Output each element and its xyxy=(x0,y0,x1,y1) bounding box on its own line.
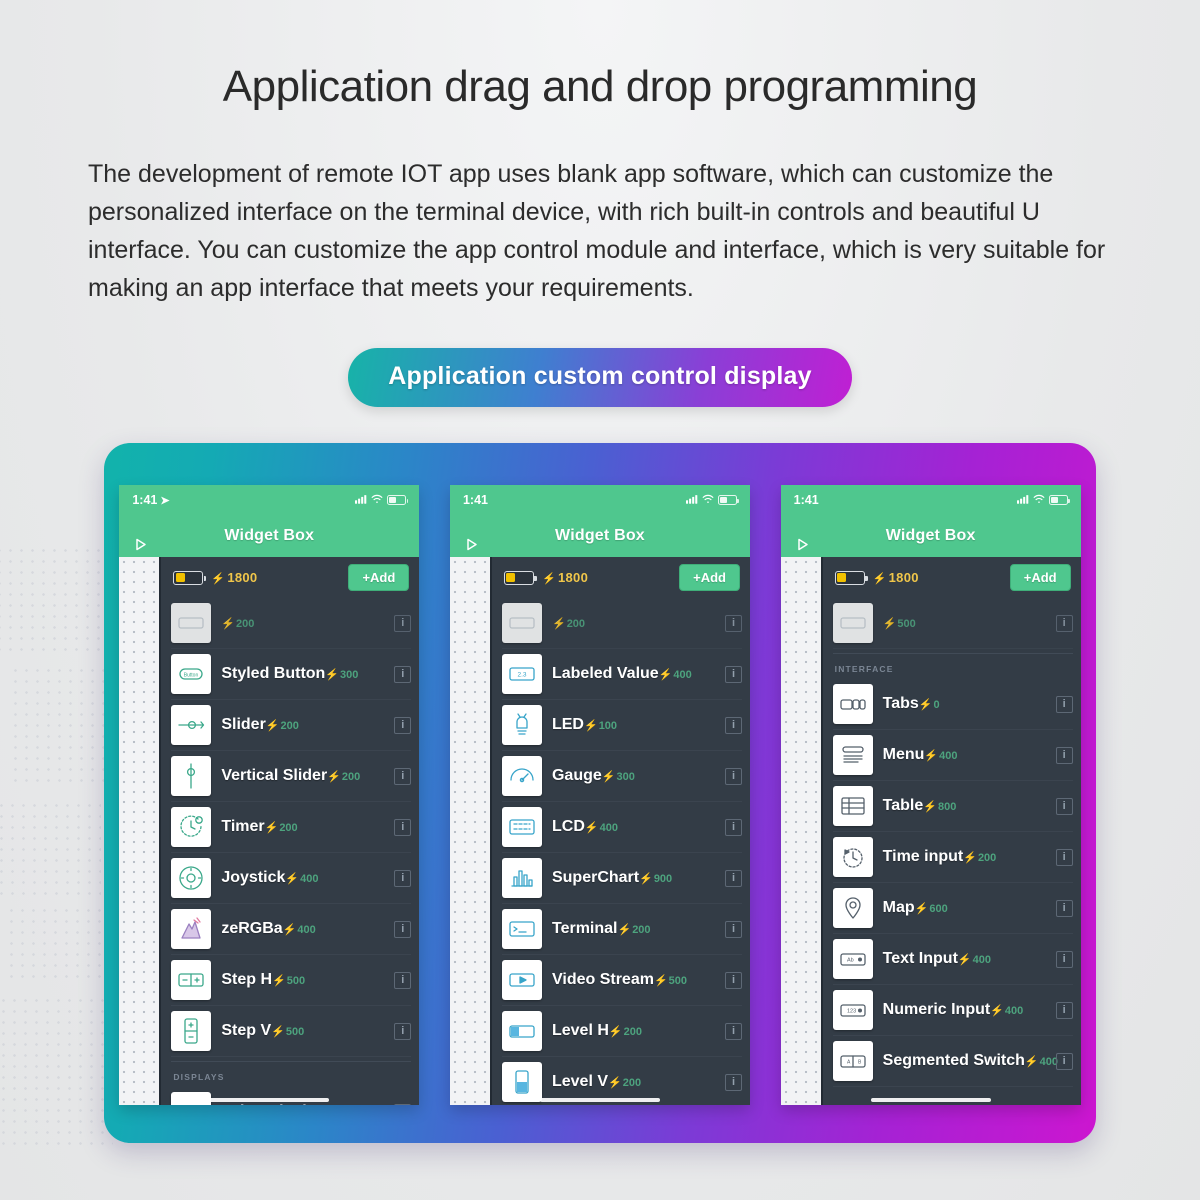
widget-info-icon[interactable]: i xyxy=(394,768,411,785)
status-time: 1:41 xyxy=(794,493,819,507)
widget-name: Timer xyxy=(221,818,264,835)
gauge-icon xyxy=(502,756,542,796)
slider-icon xyxy=(171,705,211,745)
status-time: 1:41 xyxy=(132,493,157,507)
widget-list-item[interactable]: Vertical Slider⚡200i xyxy=(171,751,411,802)
location-arrow-icon: ➤ xyxy=(160,494,169,507)
widget-list-item[interactable]: Menu⚡400i xyxy=(833,730,1073,781)
table-icon xyxy=(833,786,873,826)
signal-bars-icon xyxy=(686,493,698,507)
widget-energy-cost: ⚡400 xyxy=(924,750,957,762)
widget-name: zeRGBa xyxy=(221,920,282,937)
widget-info-icon[interactable]: i xyxy=(725,615,742,632)
widget-energy-cost: ⚡200 xyxy=(327,771,360,783)
widget-info-icon[interactable]: i xyxy=(394,1023,411,1040)
superchart-icon xyxy=(502,858,542,898)
widget-info-icon[interactable]: i xyxy=(725,870,742,887)
widget-info-icon[interactable]: i xyxy=(394,819,411,836)
widget-name: Slider xyxy=(221,716,265,733)
svg-text:Button: Button xyxy=(184,673,199,679)
widget-energy-cost: ⚡200 xyxy=(221,618,254,630)
widget-list-item[interactable]: 123Numeric Input⚡400i xyxy=(833,985,1073,1036)
widget-info-icon[interactable]: i xyxy=(394,921,411,938)
phone-mockup: 1:41Widget Box⚡1800+Add⚡200i2.3Labeled V… xyxy=(450,485,750,1105)
widget-list-item[interactable]: Table⚡800i xyxy=(833,781,1073,832)
widget-info-icon[interactable]: i xyxy=(725,1023,742,1040)
widget-name: Table xyxy=(883,797,924,814)
numeric-input-icon: 123 xyxy=(833,990,873,1030)
signal-bars-icon xyxy=(355,493,367,507)
widget-info-icon[interactable]: i xyxy=(725,972,742,989)
battery-icon xyxy=(387,495,406,505)
widget-info-icon[interactable]: i xyxy=(1056,900,1073,917)
canvas-dot-grid[interactable] xyxy=(119,557,161,1105)
time-input-icon xyxy=(833,837,873,877)
widget-info-icon[interactable]: i xyxy=(394,1104,411,1106)
widget-list-item[interactable]: Step V⚡500i xyxy=(171,1006,411,1057)
widget-list-item[interactable]: ButtonStyled Button⚡300i xyxy=(171,649,411,700)
widget-list-item[interactable]: Time input⚡200i xyxy=(833,832,1073,883)
widget-info-icon[interactable]: i xyxy=(1056,1002,1073,1019)
segmented-switch-icon: AB xyxy=(833,1041,873,1081)
widget-info-icon[interactable]: i xyxy=(1056,696,1073,713)
widget-name: Level H xyxy=(552,1022,609,1039)
map-icon xyxy=(833,888,873,928)
widget-list-item[interactable]: zeRGBa⚡400i xyxy=(171,904,411,955)
app-title: Widget Box xyxy=(781,527,1081,545)
widget-name: Labeled Value xyxy=(552,665,659,682)
widget-name: Tabs xyxy=(883,695,919,712)
widget-box-panel: ⚡1800+Add⚡200iButtonStyled Button⚡300iSl… xyxy=(161,557,419,1105)
widget-energy-cost: ⚡400 xyxy=(1025,1056,1058,1068)
widget-list-item[interactable]: Step H⚡500i xyxy=(171,955,411,1006)
widget-energy-cost: ⚡500 xyxy=(272,975,305,987)
add-energy-button[interactable]: +Add xyxy=(348,564,409,591)
section-badge-label: Application custom control display xyxy=(388,362,812,390)
widget-info-icon[interactable]: i xyxy=(725,717,742,734)
svg-text:123: 123 xyxy=(847,1009,856,1015)
widget-name: Vertical Slider xyxy=(221,767,327,784)
widget-list-item[interactable]: AbText Input⚡400i xyxy=(833,934,1073,985)
widget-info-icon[interactable]: i xyxy=(1056,1053,1073,1070)
widget-energy-cost: ⚡400 xyxy=(990,1005,1023,1017)
widget-info-icon[interactable]: i xyxy=(1056,615,1073,632)
energy-bar: ⚡1800+Add xyxy=(823,557,1081,598)
widget-list-item[interactable]: Joystick⚡400i xyxy=(171,853,411,904)
widget-energy-cost: ⚡400 xyxy=(585,822,618,834)
vertical-slider-icon xyxy=(171,756,211,796)
video-stream-icon xyxy=(502,960,542,1000)
widget-name: Gauge xyxy=(552,767,602,784)
widget-name: Terminal xyxy=(552,920,618,937)
phone-showcase-card: 1:41➤Widget Box⚡1800+Add⚡200iButtonStyle… xyxy=(104,443,1096,1143)
app-navbar: Widget Box xyxy=(781,515,1081,557)
wifi-icon xyxy=(702,493,714,507)
energy-battery-icon xyxy=(173,571,203,585)
widget-list-item[interactable]: 2.3Labeled Value⚡400i xyxy=(502,649,742,700)
page-title: Application drag and drop programming xyxy=(0,62,1200,112)
text-input-icon: Ab xyxy=(833,939,873,979)
svg-text:A: A xyxy=(847,1060,851,1066)
energy-bar: ⚡1800+Add xyxy=(161,557,419,598)
energy-bar: ⚡1800+Add xyxy=(492,557,750,598)
widget-box-panel: ⚡1800+Add⚡200i2.3Labeled Value⚡400iLED⚡1… xyxy=(492,557,750,1105)
app-title: Widget Box xyxy=(450,527,750,545)
menu-icon xyxy=(833,735,873,775)
widget-info-icon[interactable]: i xyxy=(394,717,411,734)
dot-pattern-decoration xyxy=(10,665,105,790)
widget-info-icon[interactable]: i xyxy=(725,1074,742,1091)
section-badge: Application custom control display xyxy=(348,348,852,407)
dot-pattern-decoration xyxy=(0,545,104,655)
widget-info-icon[interactable]: i xyxy=(1056,951,1073,968)
widget-energy-cost: ⚡200 xyxy=(266,720,299,732)
widget-list-item[interactable]: Terminal⚡200i xyxy=(502,904,742,955)
widget-name: Numeric Input xyxy=(883,1001,991,1018)
widget-name: Value Display xyxy=(221,1103,324,1105)
widget-scroll-area[interactable]: ⚡200iButtonStyled Button⚡300iSlider⚡200i… xyxy=(161,598,419,1105)
widget-name: Menu xyxy=(883,746,925,763)
widget-name: Text Input xyxy=(883,950,958,967)
status-bar: 1:41 xyxy=(450,485,750,515)
widget-name: Step H xyxy=(221,971,272,988)
energy-value: ⚡1800 xyxy=(542,570,588,585)
battery-icon xyxy=(1049,495,1068,505)
widget-info-icon[interactable]: i xyxy=(394,870,411,887)
status-bar: 1:41➤ xyxy=(119,485,419,515)
widget-energy-cost: ⚡200 xyxy=(963,852,996,864)
svg-text:Ab: Ab xyxy=(847,958,854,964)
widget-section-label: DISPLAYS xyxy=(171,1061,411,1087)
widget-list-item[interactable]: LED⚡100i xyxy=(502,700,742,751)
led-icon xyxy=(502,705,542,745)
widget-info-icon[interactable]: i xyxy=(1056,849,1073,866)
widget-energy-cost: ⚡200 xyxy=(617,924,650,936)
widget-list-item[interactable]: Map⚡600i xyxy=(833,883,1073,934)
widget-energy-cost: ⚡500 xyxy=(654,975,687,987)
widget-name: Joystick xyxy=(221,869,285,886)
widget-thumb-partial xyxy=(171,603,211,643)
widget-list-item[interactable]: ABSegmented Switch⚡400i xyxy=(833,1036,1073,1087)
app-title: Widget Box xyxy=(119,527,419,545)
section-badge-wrap: Application custom control display xyxy=(0,348,1200,407)
svg-text:2.3: 2.3 xyxy=(517,672,526,679)
widget-energy-cost: ⚡200 xyxy=(552,618,585,630)
add-energy-button[interactable]: +Add xyxy=(1010,564,1071,591)
widget-info-icon[interactable]: i xyxy=(394,972,411,989)
widget-list-item[interactable]: ⚡200i xyxy=(502,598,742,649)
widget-list-item[interactable]: Timer⚡200i xyxy=(171,802,411,853)
step-v-icon xyxy=(171,1011,211,1051)
widget-energy-cost: ⚡100 xyxy=(584,720,617,732)
timer-icon xyxy=(171,807,211,847)
canvas-dot-grid[interactable] xyxy=(781,557,823,1105)
widget-energy-cost: ⚡400 xyxy=(285,873,318,885)
tabs-icon xyxy=(833,684,873,724)
wifi-icon xyxy=(1033,493,1045,507)
intro-paragraph: The development of remote IOT app uses b… xyxy=(88,155,1118,307)
wifi-icon xyxy=(371,493,383,507)
battery-icon xyxy=(718,495,737,505)
widget-list-item[interactable]: Slider⚡200i xyxy=(171,700,411,751)
phone-mockup: 1:41Widget Box⚡1800+Add⚡500iINTERFACETab… xyxy=(781,485,1081,1105)
dot-pattern-decoration xyxy=(6,905,106,985)
widget-energy-cost: ⚡200 xyxy=(609,1026,642,1038)
level-v-icon xyxy=(502,1062,542,1102)
zergba-icon xyxy=(171,909,211,949)
dot-pattern-decoration xyxy=(0,995,113,1145)
value-display-icon: 3.14 xyxy=(171,1092,211,1105)
widget-section-label: INTERFACE xyxy=(833,653,1073,679)
widget-energy-cost: ⚡300 xyxy=(602,771,635,783)
widget-name: Level V xyxy=(552,1073,608,1090)
widget-info-icon[interactable]: i xyxy=(725,921,742,938)
widget-thumb-partial xyxy=(502,603,542,643)
home-indicator xyxy=(871,1098,991,1102)
widget-name: Styled Button xyxy=(221,665,325,682)
status-bar: 1:41 xyxy=(781,485,1081,515)
energy-value: ⚡1800 xyxy=(211,570,257,585)
widget-name: Time input xyxy=(883,848,964,865)
terminal-icon xyxy=(502,909,542,949)
step-h-icon xyxy=(171,960,211,1000)
widget-box-panel: ⚡1800+Add⚡500iINTERFACETabs⚡0iMenu⚡400iT… xyxy=(823,557,1081,1105)
widget-energy-cost: ⚡200 xyxy=(265,822,298,834)
widget-energy-cost: ⚡800 xyxy=(923,801,956,813)
widget-info-icon[interactable]: i xyxy=(1056,798,1073,815)
widget-info-icon[interactable]: i xyxy=(725,768,742,785)
widget-list-item[interactable]: ⚡200i xyxy=(171,598,411,649)
widget-thumb-partial xyxy=(833,603,873,643)
widget-energy-cost: ⚡500 xyxy=(883,618,916,630)
widget-info-icon[interactable]: i xyxy=(725,666,742,683)
widget-info-icon[interactable]: i xyxy=(1056,747,1073,764)
widget-name: LCD xyxy=(552,818,585,835)
widget-list-item[interactable]: ⚡500i xyxy=(833,598,1073,649)
widget-list-item[interactable]: Video Stream⚡500i xyxy=(502,955,742,1006)
widget-energy-cost: ⚡900 xyxy=(639,873,672,885)
widget-energy-cost: ⚡400 xyxy=(283,924,316,936)
status-time: 1:41 xyxy=(463,493,488,507)
widget-info-icon[interactable]: i xyxy=(394,666,411,683)
labeled-value-icon: 2.3 xyxy=(502,654,542,694)
widget-energy-cost: ⚡0 xyxy=(919,699,940,711)
widget-energy-cost: ⚡300 xyxy=(325,669,358,681)
widget-list-item[interactable]: Level H⚡200i xyxy=(502,1006,742,1057)
widget-list-item[interactable]: Tabs⚡0i xyxy=(833,679,1073,730)
energy-battery-icon xyxy=(504,571,534,585)
widget-energy-cost: ⚡500 xyxy=(271,1026,304,1038)
home-indicator xyxy=(209,1098,329,1102)
level-h-icon xyxy=(502,1011,542,1051)
widget-name: Step V xyxy=(221,1022,271,1039)
add-energy-button[interactable]: +Add xyxy=(679,564,740,591)
widget-name: Map xyxy=(883,899,915,916)
svg-text:B: B xyxy=(858,1060,862,1066)
app-navbar: Widget Box xyxy=(119,515,419,557)
home-indicator xyxy=(540,1098,660,1102)
widget-scroll-area[interactable]: ⚡200i2.3Labeled Value⚡400iLED⚡100iGauge⚡… xyxy=(492,598,750,1105)
phone-mockup: 1:41➤Widget Box⚡1800+Add⚡200iButtonStyle… xyxy=(119,485,419,1105)
canvas-dot-grid[interactable] xyxy=(450,557,492,1105)
widget-info-icon[interactable]: i xyxy=(394,615,411,632)
widget-info-icon[interactable]: i xyxy=(725,819,742,836)
widget-energy-cost: ⚡600 xyxy=(915,903,948,915)
widget-list-item[interactable]: LCD⚡400i xyxy=(502,802,742,853)
widget-name: Video Stream xyxy=(552,971,654,988)
widget-energy-cost: ⚡400 xyxy=(958,954,991,966)
joystick-icon xyxy=(171,858,211,898)
app-navbar: Widget Box xyxy=(450,515,750,557)
widget-name: SuperChart xyxy=(552,869,639,886)
widget-energy-cost: ⚡400 xyxy=(659,669,692,681)
signal-bars-icon xyxy=(1017,493,1029,507)
widget-name: LED xyxy=(552,716,584,733)
widget-energy-cost: ⚡200 xyxy=(608,1077,641,1089)
lcd-icon xyxy=(502,807,542,847)
energy-battery-icon xyxy=(835,571,865,585)
energy-value: ⚡1800 xyxy=(873,570,919,585)
dot-pattern-decoration xyxy=(0,800,101,900)
widget-list-item[interactable]: Gauge⚡300i xyxy=(502,751,742,802)
widget-scroll-area[interactable]: ⚡500iINTERFACETabs⚡0iMenu⚡400iTable⚡800i… xyxy=(823,598,1081,1105)
widget-list-item[interactable]: SuperChart⚡900i xyxy=(502,853,742,904)
widget-name: Segmented Switch xyxy=(883,1052,1025,1069)
widget-list-item[interactable]: 3.14Value Display⚡300i xyxy=(171,1087,411,1105)
styled-button-icon: Button xyxy=(171,654,211,694)
